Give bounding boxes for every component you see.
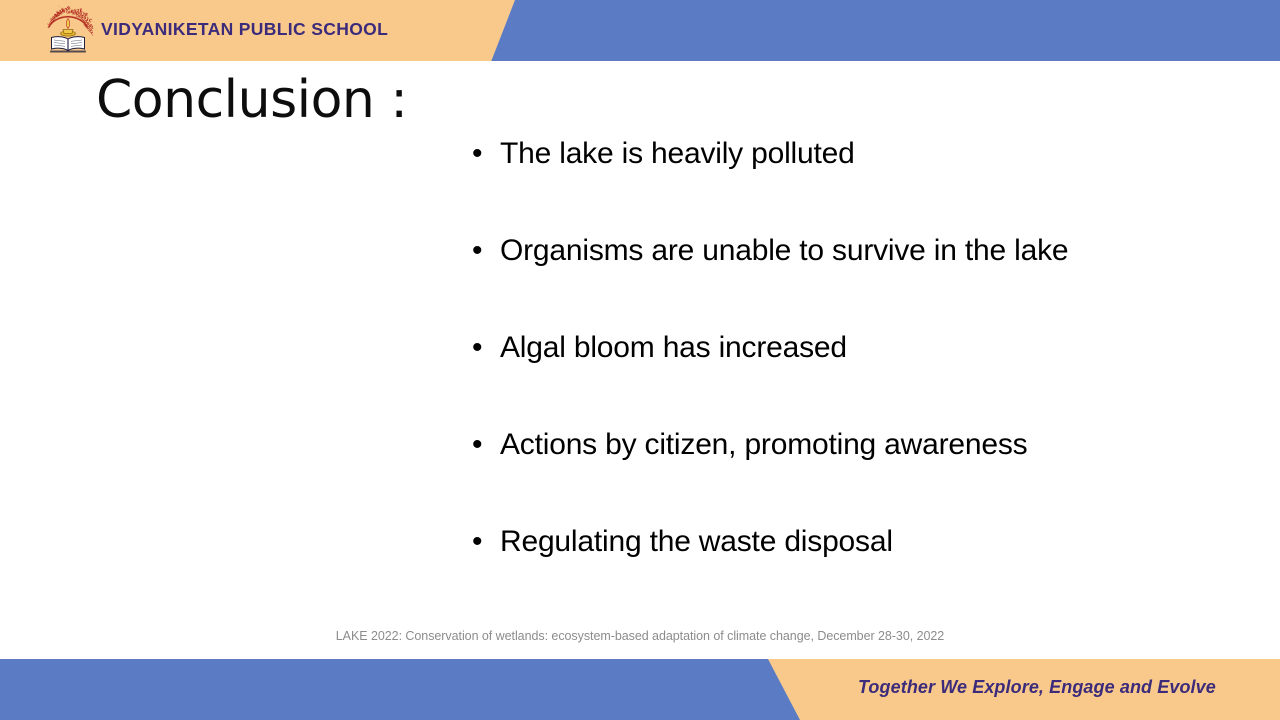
list-item: • Actions by citizen, promoting awarenes… (472, 423, 1232, 520)
list-item: • Algal bloom has increased (472, 326, 1232, 423)
list-item-text: Algal bloom has increased (500, 326, 1232, 370)
school-tagline: Together We Explore, Engage and Evolve (858, 677, 1216, 698)
bullet-marker-icon: • (472, 326, 500, 370)
presentation-slide: \u0924 \u092E \u0938 \u094B \u092E \u093… (0, 0, 1280, 720)
school-name-label: VIDYANIKETAN PUBLIC SCHOOL (101, 19, 388, 40)
list-item-text: Regulating the waste disposal (500, 520, 1232, 564)
slide-title: Conclusion : (96, 71, 407, 131)
list-item-text: Organisms are unable to survive in the l… (500, 229, 1232, 273)
bullet-marker-icon: • (472, 132, 500, 176)
footer-band-blue (0, 659, 800, 720)
school-logo-icon: \u0924 \u092E \u0938 \u094B \u092E \u093… (43, 6, 93, 56)
list-item: • Regulating the waste disposal (472, 520, 1232, 617)
bullet-marker-icon: • (472, 423, 500, 467)
bullet-marker-icon: • (472, 229, 500, 273)
bullet-list: • The lake is heavily polluted • Organis… (472, 132, 1232, 617)
list-item-text: Actions by citizen, promoting awareness (500, 423, 1232, 467)
list-item: • Organisms are unable to survive in the… (472, 229, 1232, 326)
list-item: • The lake is heavily polluted (472, 132, 1232, 229)
list-item-text: The lake is heavily polluted (500, 132, 1232, 176)
bullet-marker-icon: • (472, 520, 500, 564)
conference-citation: LAKE 2022: Conservation of wetlands: eco… (0, 629, 1280, 643)
